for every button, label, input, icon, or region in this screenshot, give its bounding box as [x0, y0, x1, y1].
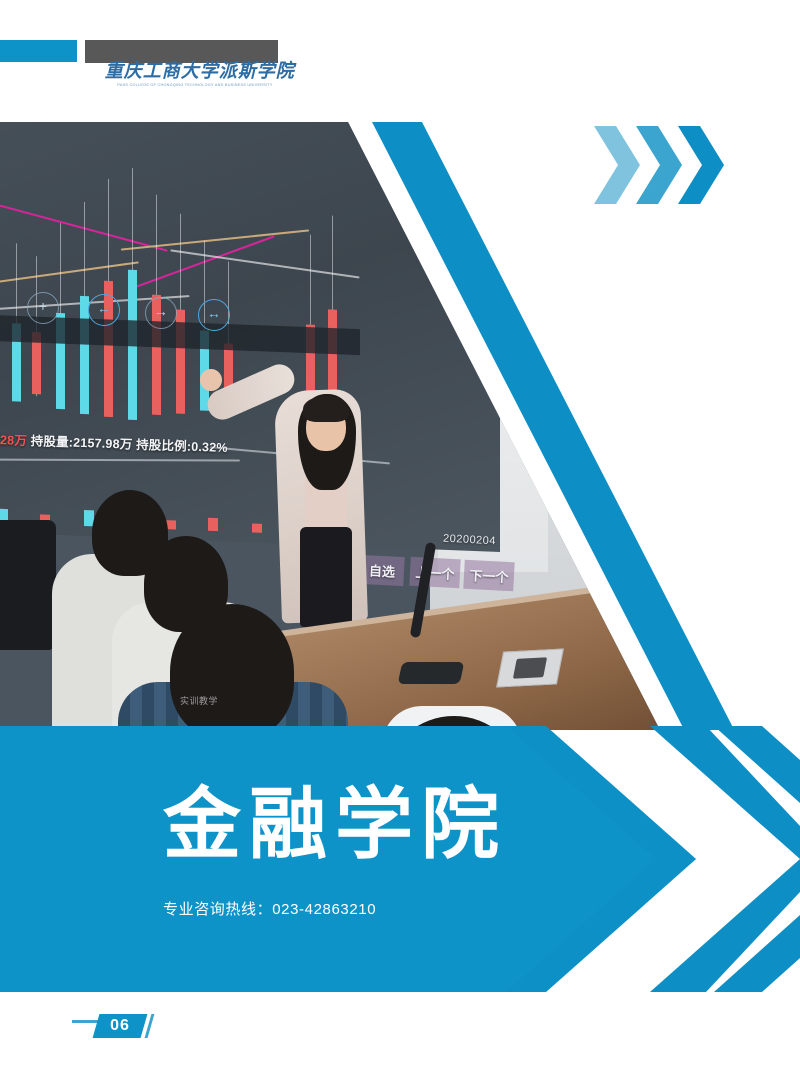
ticker-volume: 28万 — [0, 433, 27, 448]
laptop-screen — [513, 657, 547, 679]
consultation-hotline: 专业咨询热线：023-42863210 — [163, 898, 376, 919]
teacher-hair-front — [303, 396, 349, 422]
teacher-skirt — [300, 527, 352, 627]
classroom-photo: 28万 持股量:2157.98万 持股比例:0.32% 16.95 + ← → … — [0, 122, 660, 730]
logo-chinese-name: 重庆工商大学派斯学院 — [105, 62, 286, 81]
next-button[interactable]: 下一个 — [463, 560, 514, 592]
footer-page-marker: 06 — [72, 1012, 182, 1046]
ma-line-tan-2 — [121, 229, 309, 250]
ma-line-tan — [0, 261, 139, 286]
chevron-right-icon-light — [594, 126, 640, 204]
ticker-holding: 持股量:2157.98万 — [30, 434, 132, 452]
page-number-text: 06 — [96, 1014, 144, 1038]
ticker-ratio: 持股比例:0.32% — [136, 438, 228, 455]
page-number-badge: 06 — [93, 1014, 148, 1038]
page-title: 金融学院 — [163, 786, 507, 864]
previous-button[interactable]: 上一个 — [409, 557, 460, 589]
university-logo: 重庆工商大学派斯学院 PASS COLLEGE OF CHONGQING TEC… — [100, 62, 290, 96]
ma-line-lower — [0, 459, 240, 462]
student-head — [170, 604, 294, 730]
volume-bar — [252, 523, 262, 532]
volume-bar — [208, 518, 218, 531]
photo-content: 28万 持股量:2157.98万 持股比例:0.32% 16.95 + ← → … — [0, 122, 660, 730]
chevron-right-icon-dark — [678, 126, 724, 204]
laptop — [496, 648, 564, 687]
chair — [0, 520, 56, 650]
chevron-arrows — [594, 126, 724, 204]
header-accent-bar-blue — [0, 40, 77, 62]
photo-watermark: 实训教学 — [180, 694, 218, 707]
chevron-right-icon-mid — [636, 126, 682, 204]
microphone-base — [398, 662, 465, 684]
logo-english-name: PASS COLLEGE OF CHONGQING TECHNOLOGY AND… — [95, 84, 295, 88]
brochure-page: 重庆工商大学派斯学院 PASS COLLEGE OF CHONGQING TEC… — [0, 0, 800, 1087]
